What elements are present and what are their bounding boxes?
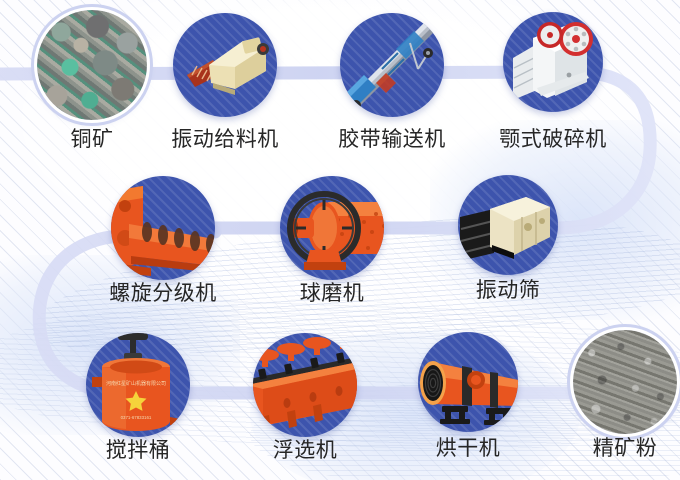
node-agitation-tank[interactable]: 河南红星矿山机器有限公司 0371-67833161 — [86, 333, 190, 437]
concentrate-powder-disc — [573, 330, 677, 434]
node-jaw-crusher[interactable] — [503, 12, 603, 112]
node-copper-ore[interactable] — [37, 10, 147, 120]
spiral-classifier-disc — [111, 176, 215, 280]
spiral-classifier-machine-icon — [111, 176, 215, 280]
node-ball-mill[interactable] — [280, 176, 384, 280]
agitation-tank-disc: 河南红星矿山机器有限公司 0371-67833161 — [86, 333, 190, 437]
agitation-tank-machine-icon: 河南红星矿山机器有限公司 0371-67833161 — [86, 333, 190, 437]
flotation-machine-disc — [253, 333, 357, 437]
flotation-machine-icon — [253, 333, 357, 437]
jaw-crusher-machine-icon — [503, 12, 603, 112]
caption-ball-mill: 球磨机 — [272, 283, 392, 304]
caption-rotary-dryer: 烘干机 — [408, 438, 528, 459]
caption-agitation-tank: 搅拌桶 — [78, 440, 198, 461]
node-belt-conveyor[interactable] — [340, 13, 444, 117]
caption-jaw-crusher: 颚式破碎机 — [493, 129, 613, 150]
caption-belt-conveyor: 胶带输送机 — [332, 129, 452, 150]
node-vibrating-screen[interactable] — [458, 175, 558, 275]
jaw-crusher-disc — [503, 12, 603, 112]
node-spiral-classifier[interactable] — [111, 176, 215, 280]
node-concentrate-powder[interactable] — [573, 330, 677, 434]
caption-concentrate-powder: 精矿粉 — [565, 438, 680, 459]
rotary-dryer-disc — [418, 332, 518, 432]
vibrating-feeder-machine-icon — [173, 13, 277, 117]
node-flotation-machine[interactable] — [253, 333, 357, 437]
node-rotary-dryer[interactable] — [418, 332, 518, 432]
vibrating-feeder-disc — [173, 13, 277, 117]
process-flow-diagram: 铜矿 — [0, 0, 680, 480]
caption-vibrating-screen: 振动筛 — [448, 280, 568, 301]
node-vibrating-feeder[interactable] — [173, 13, 277, 117]
vibrating-screen-disc — [458, 175, 558, 275]
copper-ore-photo — [37, 10, 147, 120]
caption-vibrating-feeder: 振动给料机 — [165, 129, 285, 150]
caption-flotation-machine: 浮选机 — [245, 440, 365, 461]
belt-conveyor-machine-icon — [340, 13, 444, 117]
caption-copper-ore: 铜矿 — [32, 129, 152, 150]
ball-mill-disc — [280, 176, 384, 280]
svg-text:河南红星矿山机器有限公司: 河南红星矿山机器有限公司 — [106, 380, 166, 387]
caption-spiral-classifier: 螺旋分级机 — [103, 283, 223, 304]
concentrate-powder-photo — [573, 330, 677, 434]
ball-mill-machine-icon — [280, 176, 384, 280]
rotary-dryer-machine-icon — [418, 332, 518, 432]
copper-ore-disc — [37, 10, 147, 120]
vibrating-screen-machine-icon — [458, 175, 558, 275]
belt-conveyor-disc — [340, 13, 444, 117]
svg-text:0371-67833161: 0371-67833161 — [121, 415, 152, 420]
